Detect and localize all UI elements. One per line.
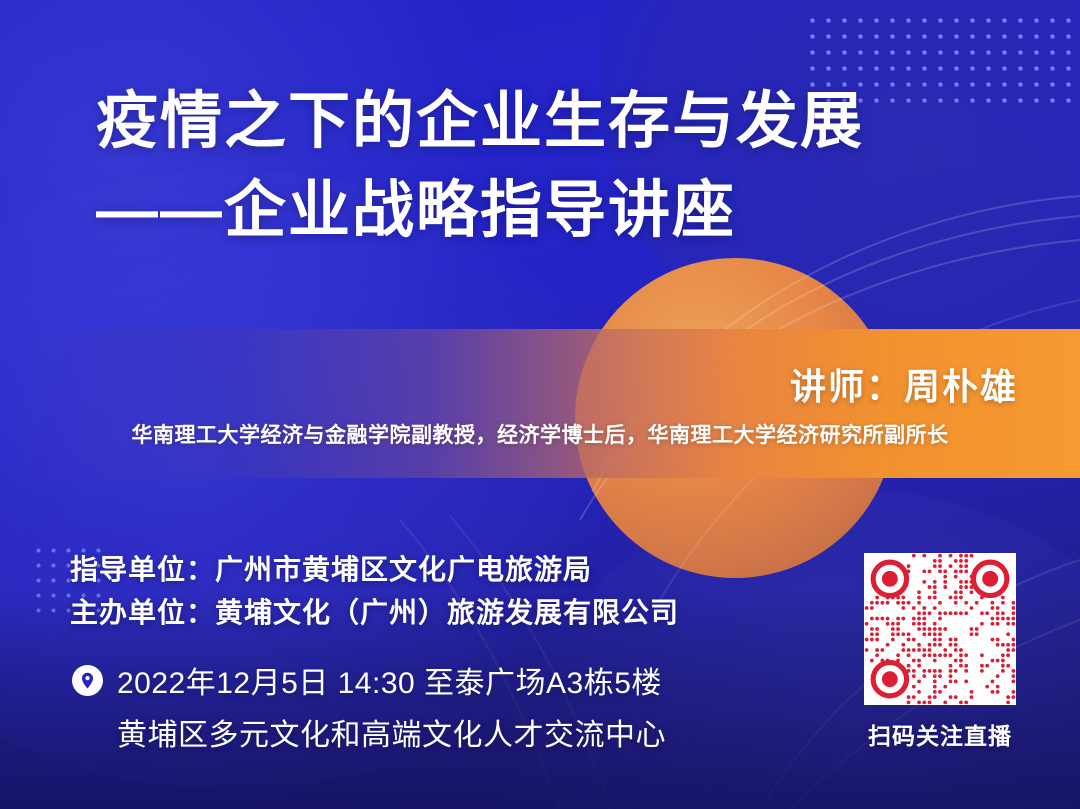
location-pin-icon bbox=[72, 665, 103, 696]
event-poster: 疫情之下的企业生存与发展 ——企业战略指导讲座 讲师：周朴雄 华南理工大学经济与… bbox=[0, 0, 1080, 809]
hosting-unit-line: 主办单位：黄埔文化（广州）旅游发展有限公司 bbox=[70, 592, 679, 635]
venue-datetime-row: 2022年12月5日 14:30 至泰广场A3栋5楼 bbox=[72, 658, 666, 702]
qr-code[interactable] bbox=[864, 553, 1016, 705]
venue-block: 2022年12月5日 14:30 至泰广场A3栋5楼 黄埔区多元文化和高端文化人… bbox=[72, 658, 666, 754]
speaker-name: 讲师：周朴雄 bbox=[790, 358, 1018, 410]
page-title: 疫情之下的企业生存与发展 ——企业战略指导讲座 bbox=[96, 82, 864, 251]
title-line-primary: 疫情之下的企业生存与发展 bbox=[96, 82, 864, 161]
venue-address-row: 黄埔区多元文化和高端文化人才交流中心 bbox=[117, 710, 666, 754]
venue-address-text: 黄埔区多元文化和高端文化人才交流中心 bbox=[117, 719, 666, 752]
qr-code-block: 扫码关注直播 bbox=[864, 553, 1016, 751]
guiding-unit-line: 指导单位：广州市黄埔区文化广电旅游局 bbox=[70, 549, 679, 592]
organizer-block: 指导单位：广州市黄埔区文化广电旅游局 主办单位：黄埔文化（广州）旅游发展有限公司 bbox=[70, 549, 679, 634]
venue-datetime-text: 2022年12月5日 14:30 至泰广场A3栋5楼 bbox=[117, 658, 662, 702]
qr-caption: 扫码关注直播 bbox=[864, 717, 1016, 751]
speaker-credentials: 华南理工大学经济与金融学院副教授，经济学博士后，华南理工大学经济研究所副所长 bbox=[0, 419, 1080, 449]
title-line-subtitle: ——企业战略指导讲座 bbox=[96, 171, 864, 250]
